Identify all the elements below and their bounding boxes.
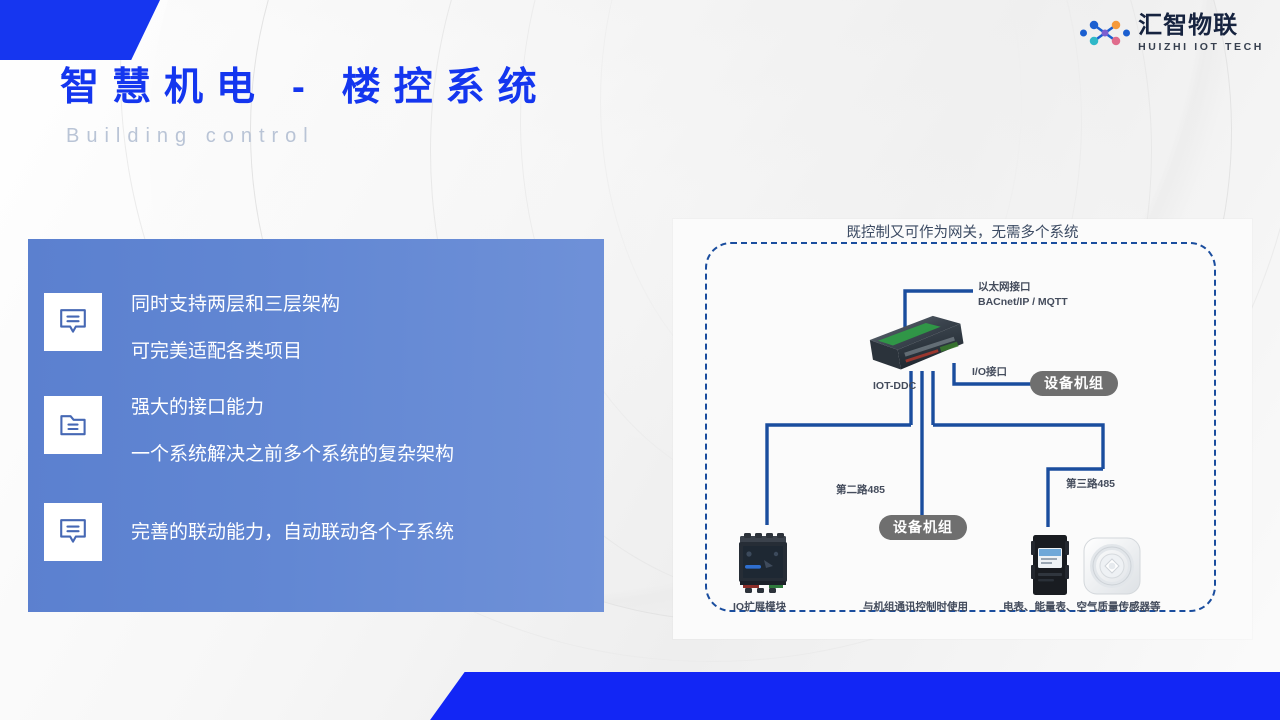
brand-logo: 汇智物联 HUIZHI IOT TECH	[1079, 14, 1264, 53]
logo-text-block: 汇智物联 HUIZHI IOT TECH	[1138, 14, 1264, 53]
feature-item-1: 同时支持两层和三层架构 可完美适配各类项目	[44, 293, 340, 361]
logo-name-en: HUIZHI IOT TECH	[1138, 42, 1264, 53]
unit-pill-bottom: 设备机组	[879, 515, 967, 540]
feature-panel: 同时支持两层和三层架构 可完美适配各类项目 强大的接口能力 一个系统解决之前多个…	[28, 239, 604, 612]
io-expansion-module-icon	[735, 533, 791, 593]
feature-text-1: 同时支持两层和三层架构 可完美适配各类项目	[131, 293, 340, 361]
folder-lines-icon	[44, 396, 102, 454]
speech-bubble-lines-icon	[44, 503, 102, 561]
unit-pill-top: 设备机组	[1030, 371, 1118, 396]
electric-meter-icon	[1031, 535, 1069, 597]
page-title: 智慧机电 - 楼控系统	[60, 68, 550, 107]
network-nodes-icon	[1079, 16, 1131, 50]
ethernet-label-line1: 以太网接口	[978, 280, 1031, 294]
feature-line: 完善的联动能力，自动联动各个子系统	[131, 523, 454, 542]
architecture-diagram: 既控制又可作为网关，无需多个系统	[673, 219, 1252, 639]
io-port-label: I/O接口	[972, 365, 1007, 379]
feature-line: 同时支持两层和三层架构	[131, 295, 340, 314]
corner-accent-top-left	[0, 0, 160, 60]
unit-bottom-caption: 与机组通讯控制时使用	[863, 600, 968, 614]
feature-line: 一个系统解决之前多个系统的复杂架构	[131, 445, 454, 464]
bus2-label: 第二路485	[836, 483, 885, 497]
feature-item-2: 强大的接口能力 一个系统解决之前多个系统的复杂架构	[44, 396, 454, 464]
ddc-label: IOT-DDC	[873, 379, 916, 393]
ethernet-label-line2: BACnet/IP / MQTT	[978, 295, 1068, 309]
corner-accent-bottom	[0, 672, 1280, 720]
speech-bubble-lines-icon	[44, 293, 102, 351]
feature-item-3: 完善的联动能力，自动联动各个子系统	[44, 503, 454, 561]
feature-text-3: 完善的联动能力，自动联动各个子系统	[131, 503, 454, 561]
air-quality-sensor-icon	[1083, 537, 1141, 595]
feature-line: 强大的接口能力	[131, 398, 454, 417]
sensors-caption: 电表、能量表、空气质量传感器等	[1003, 600, 1161, 614]
feature-text-2: 强大的接口能力 一个系统解决之前多个系统的复杂架构	[131, 396, 454, 464]
feature-line: 可完美适配各类项目	[131, 342, 340, 361]
slide-root: 智慧机电 - 楼控系统 Building control 汇智物联 HUIZHI…	[0, 0, 1280, 720]
io-module-label: IO扩展模块	[733, 600, 786, 614]
page-subtitle: Building control	[66, 126, 315, 146]
bus3-label: 第三路485	[1066, 477, 1115, 491]
logo-name-cn: 汇智物联	[1138, 14, 1264, 38]
